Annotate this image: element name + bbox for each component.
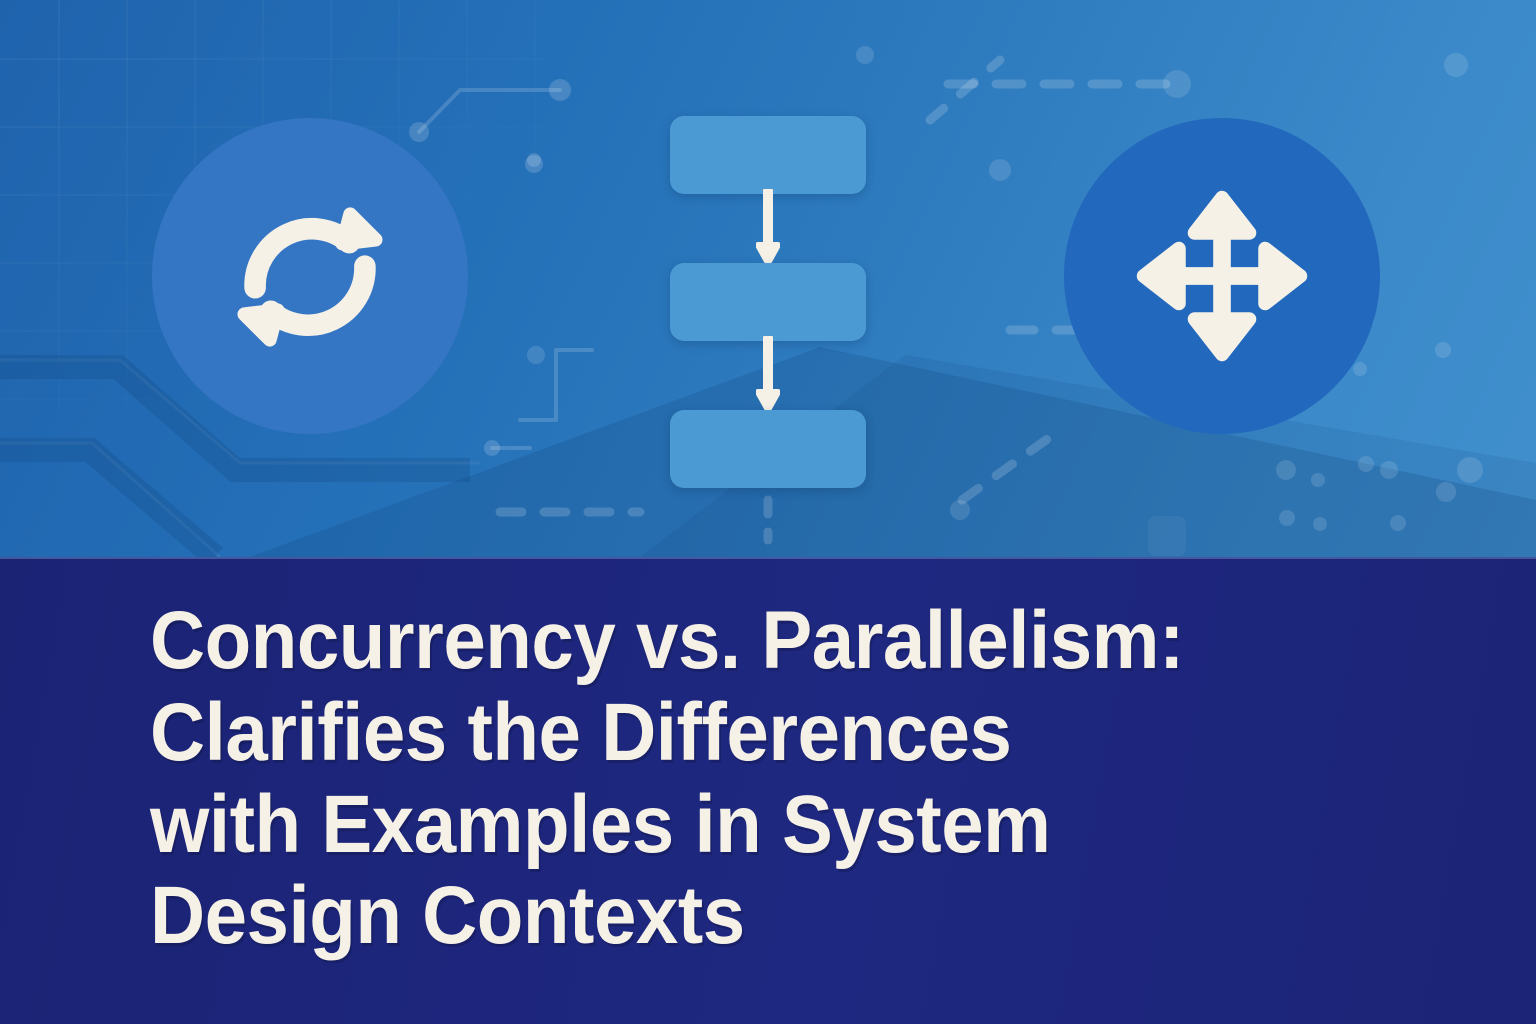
flow-arrow-2	[756, 336, 780, 412]
hero-banner: Concurrency vs. Parallelism: Clarifies t…	[0, 0, 1536, 1024]
ghost-panels-decor	[1148, 516, 1186, 556]
parallelism-badge	[1064, 118, 1380, 434]
flow-arrow-1	[756, 189, 780, 265]
pipeline-flow-diagram	[670, 116, 866, 488]
task-box-3	[670, 410, 866, 488]
hero-graphic-band	[0, 0, 1536, 557]
title-band: Concurrency vs. Parallelism: Clarifies t…	[0, 557, 1536, 1024]
task-box-2	[670, 263, 866, 341]
page-title: Concurrency vs. Parallelism: Clarifies t…	[150, 595, 1350, 962]
refresh-cycle-icon	[212, 178, 408, 374]
four-way-arrows-icon	[1124, 178, 1320, 374]
task-box-1	[670, 116, 866, 194]
concurrency-badge	[152, 118, 468, 434]
diagonal-shape-decor	[250, 347, 1536, 557]
